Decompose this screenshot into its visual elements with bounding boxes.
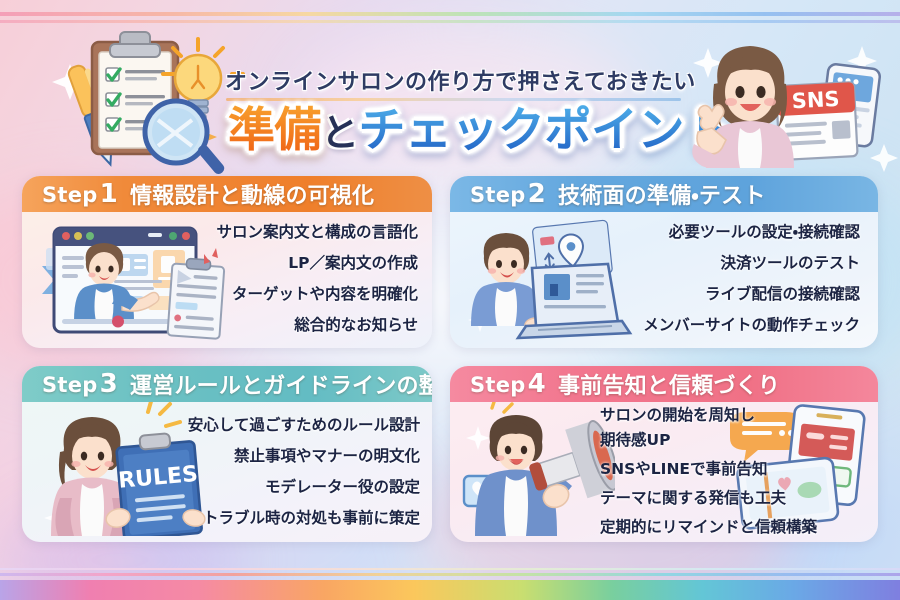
step-card-4-header: Step4 事前告知と信頼づくり bbox=[450, 366, 878, 402]
step-card-4-step-tag: Step4 bbox=[470, 369, 546, 399]
step-card-2-lines: 必要ツールの設定・接続確認 決済ツールのテスト ライブ配信の接続確認 メンバーサ… bbox=[643, 212, 860, 342]
step-card-4[interactable]: Step4 事前告知と信頼づくり bbox=[450, 366, 878, 542]
title-part-orange: 準備 bbox=[228, 103, 321, 158]
step-card-4-lines: サロンの開始を周知し 期待感UP SNSやLINEで事前告知 テーマに関する発信… bbox=[600, 402, 817, 538]
list-item: 禁止事項やマナーの明文化 bbox=[234, 444, 420, 466]
step-card-2-step-tag: Step2 bbox=[470, 179, 546, 209]
list-item: モデレーター役の設定 bbox=[265, 475, 420, 497]
step-card-1-heading: 情報設計と動線の可視化 bbox=[130, 178, 374, 210]
step-card-1-step-tag: Step1 bbox=[42, 179, 118, 209]
list-item: 必要ツールの設定・接続確認 bbox=[669, 220, 860, 242]
list-item: ライブ配信の接続確認 bbox=[705, 282, 860, 304]
header-subtitle: オンラインサロンの作り方で押さえておきたい bbox=[225, 64, 680, 96]
step-card-2-heading: 技術面の準備・テスト bbox=[558, 178, 765, 210]
step-card-3-step-tag: Step3 bbox=[42, 369, 118, 399]
sns-card-label: SNS bbox=[791, 87, 840, 113]
top-rainbow-rule-primary bbox=[0, 12, 900, 16]
step-card-2-header: Step2 技術面の準備・テスト bbox=[450, 176, 878, 212]
list-item: 決済ツールのテスト bbox=[720, 251, 860, 273]
infographic-canvas: オンラインサロンの作り方で押さえておきたい 準備とチェックポイント bbox=[0, 0, 900, 600]
list-item: トラブル時の対処も事前に策定 bbox=[203, 506, 420, 528]
list-item: 定期的にリマインドと信頼構築 bbox=[600, 515, 817, 537]
step-card-3-header: Step3 運営ルールとガイドラインの整備 bbox=[22, 366, 432, 402]
list-item: テーマに関する発信も工夫 bbox=[600, 486, 786, 508]
list-item: 期待感UP bbox=[600, 428, 670, 450]
header-left-illustration bbox=[46, 20, 246, 180]
header-banner: オンラインサロンの作り方で押さえておきたい 準備とチェックポイント bbox=[0, 24, 900, 174]
list-item: サロンの開始を周知し bbox=[600, 403, 755, 425]
header-divider bbox=[226, 98, 681, 101]
step-card-4-illustration bbox=[460, 402, 615, 536]
list-item: メンバーサイトの動作チェック bbox=[643, 313, 860, 335]
header-main-title: 準備とチェックポイント bbox=[228, 106, 698, 157]
step-card-3[interactable]: Step3 運営ルールとガイドラインの整備 bbox=[22, 366, 432, 542]
step-card-3-body: RULES 安心して過ごすためのルール設計 禁止事項やマナーの明文化 モデレータ… bbox=[22, 402, 432, 538]
step-card-1-body: サロン案内文と構成の言語化 LP／案内文の作成 ターゲットや内容を明確化 総合的… bbox=[22, 212, 432, 342]
step-card-1[interactable]: Step1 情報設計と動線の可視化 bbox=[22, 176, 432, 348]
step-card-2[interactable]: Step2 技術面の準備・テスト bbox=[450, 176, 878, 348]
list-item: LP／案内文の作成 bbox=[288, 251, 418, 273]
list-item: ターゲットや内容を明確化 bbox=[232, 282, 418, 304]
step-card-1-lines: サロン案内文と構成の言語化 LP／案内文の作成 ターゲットや内容を明確化 総合的… bbox=[216, 212, 418, 342]
step-card-1-header: Step1 情報設計と動線の可視化 bbox=[22, 176, 432, 212]
header-right-illustration: SNS bbox=[678, 26, 898, 176]
step-card-4-body: サロンの開始を周知し 期待感UP SNSやLINEで事前告知 テーマに関する発信… bbox=[450, 402, 878, 538]
step-card-2-body: 必要ツールの設定・接続確認 決済ツールのテスト ライブ配信の接続確認 メンバーサ… bbox=[450, 212, 878, 342]
title-part-connector: と bbox=[321, 111, 359, 155]
step-card-4-heading: 事前告知と信頼づくり bbox=[558, 368, 780, 400]
list-item: SNSやLINEで事前告知 bbox=[600, 457, 768, 479]
bottom-rainbow-bar bbox=[0, 580, 900, 600]
step-card-3-lines: 安心して過ごすためのルール設計 禁止事項やマナーの明文化 モデレーター役の設定 … bbox=[188, 402, 420, 538]
list-item: サロン案内文と構成の言語化 bbox=[216, 220, 418, 242]
step-card-2-illustration bbox=[466, 212, 636, 342]
step-card-1-illustration bbox=[40, 214, 230, 342]
step-card-3-heading: 運営ルールとガイドラインの整備 bbox=[130, 368, 432, 400]
list-item: 安心して過ごすためのルール設計 bbox=[188, 413, 420, 435]
list-item: 総合的なお知らせ bbox=[294, 313, 418, 335]
bottom-rainbow-line bbox=[0, 573, 900, 576]
title-part-blue: チェックポイント bbox=[359, 103, 731, 158]
bottom-rainbow-line-thin bbox=[0, 568, 900, 570]
